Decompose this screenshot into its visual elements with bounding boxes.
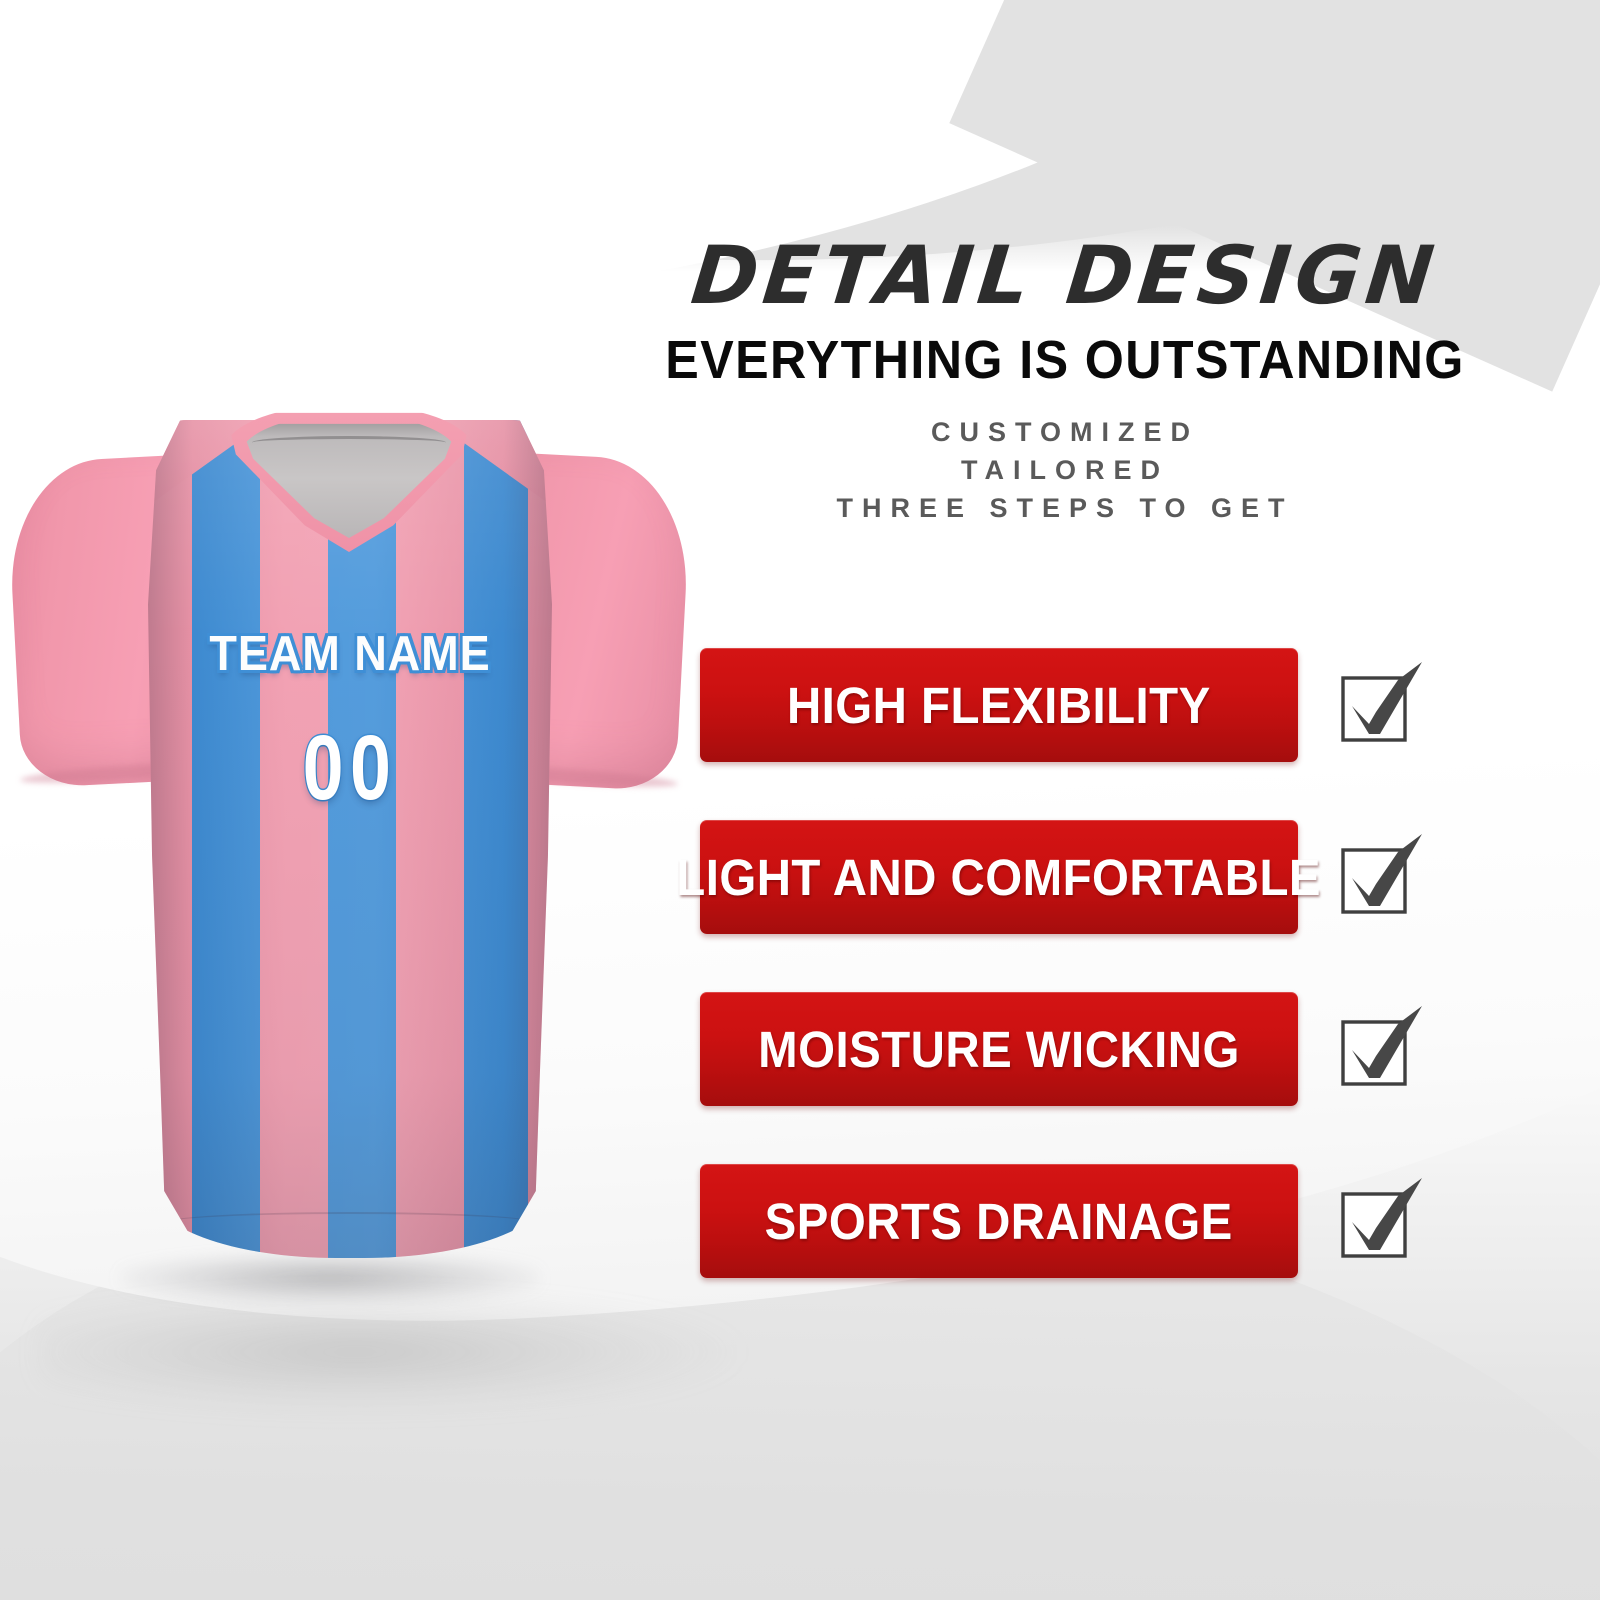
jersey-collar-seam [252,436,446,449]
checkmark-icon [1336,1006,1422,1092]
feature-label: LIGHT AND COMFORTABLE [677,848,1322,907]
feature-label: SPORTS DRAINAGE [765,1192,1233,1251]
tagline-list: CUSTOMIZED TAILORED THREE STEPS TO GET [585,413,1545,528]
feature-label: MOISTURE WICKING [758,1020,1240,1079]
checkmark-icon [1336,662,1422,748]
feature-badge-high-flexibility[interactable]: HIGH FLEXIBILITY [700,648,1298,762]
feature-row: LIGHT AND COMFORTABLE [700,818,1500,936]
jersey-hem-line [164,1212,536,1234]
feature-badge-sports-drainage[interactable]: SPORTS DRAINAGE [700,1164,1298,1278]
tagline-2: TAILORED [585,451,1545,489]
feature-row: HIGH FLEXIBILITY [700,646,1500,764]
feature-list: HIGH FLEXIBILITY LIGHT AND COMFORTABLE [700,646,1500,1334]
header-panel: DETAIL DESIGN EVERYTHING IS OUTSTANDING … [585,234,1545,528]
jersey-number-text: 00 [188,716,511,821]
page-title: DETAIL DESIGN [581,234,1550,319]
feature-label: HIGH FLEXIBILITY [787,676,1211,735]
jersey-product-image: TEAM NAME 00 [0,398,700,1278]
checkmark-icon [1336,1178,1422,1264]
feature-badge-moisture-wicking[interactable]: MOISTURE WICKING [700,992,1298,1106]
feature-badge-light-and-comfortable[interactable]: LIGHT AND COMFORTABLE [700,820,1298,934]
checkmark-icon [1336,834,1422,920]
product-detail-banner: TEAM NAME 00 DETAIL DESIGN EVERYTHING IS… [0,0,1600,1600]
feature-row: MOISTURE WICKING [700,990,1500,1108]
page-subtitle: EVERYTHING IS OUTSTANDING [619,329,1512,391]
tagline-3: THREE STEPS TO GET [585,489,1545,527]
background-floor-shadow [40,1292,740,1412]
feature-row: SPORTS DRAINAGE [700,1162,1500,1280]
jersey-team-name-text: TEAM NAME [164,626,536,682]
jersey-graphic: TEAM NAME 00 [0,398,700,1278]
tagline-1: CUSTOMIZED [585,413,1545,451]
